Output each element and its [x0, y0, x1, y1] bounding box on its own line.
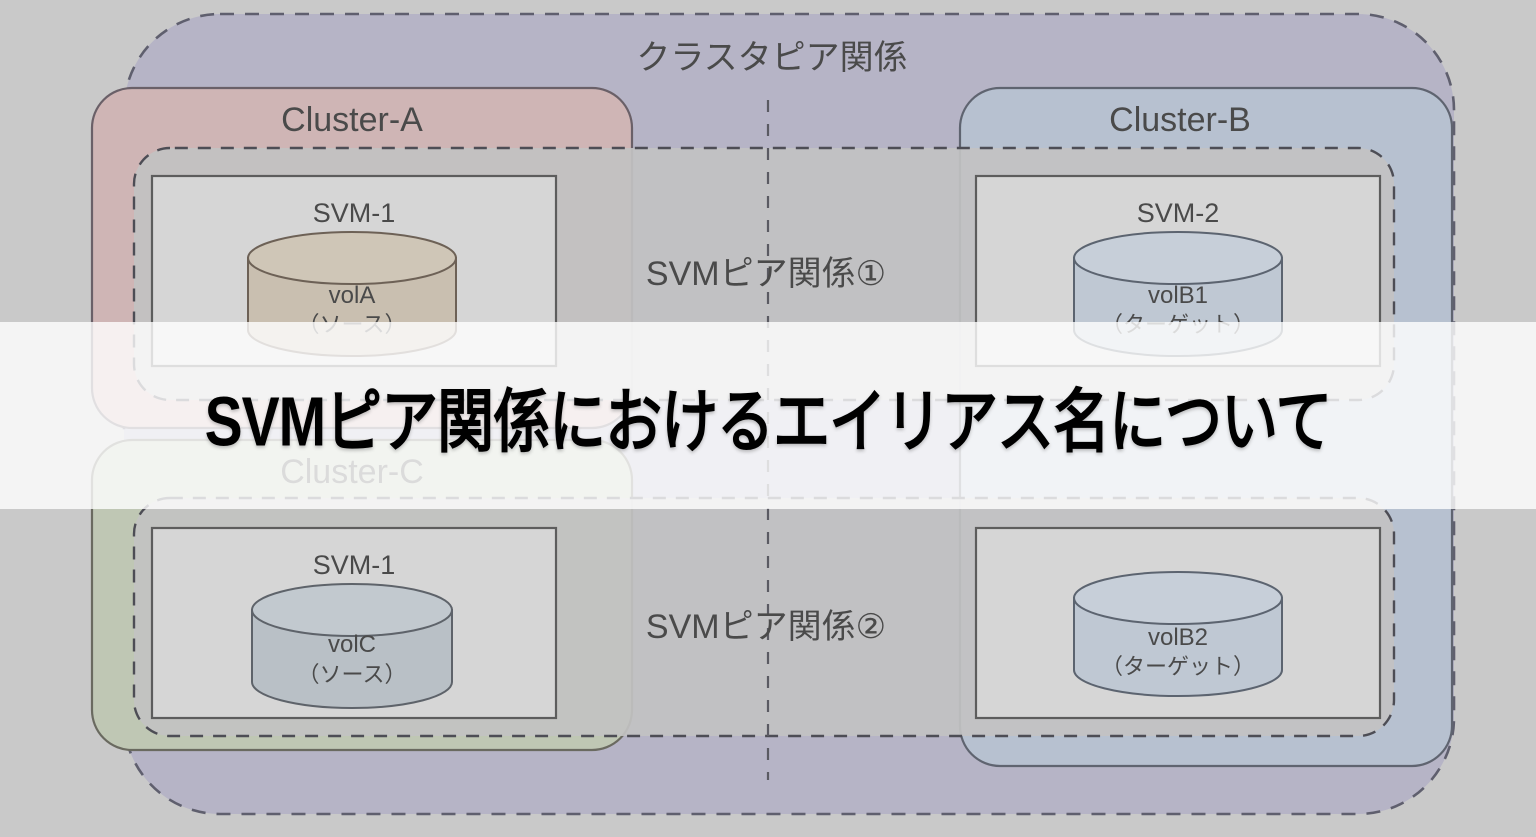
- cluster-c-label: Cluster-C: [280, 453, 424, 491]
- svm-label-c: SVM-1: [313, 550, 396, 580]
- volume-name-a: volA: [329, 282, 376, 309]
- volume-name-c: volC: [328, 631, 376, 658]
- svm-peer-label-1: SVMピア関係①: [646, 255, 886, 293]
- screenshot-root: SVM-1 volA （ソース） SVM-2 volB1 （ターゲット） SVM…: [0, 0, 1536, 837]
- volume-name-b2: volB2: [1148, 624, 1208, 651]
- volume-name-b1: volB1: [1148, 282, 1208, 309]
- volume-role-b2: （ターゲット）: [1101, 654, 1255, 679]
- svm-peer-label-2: SVMピア関係②: [646, 608, 886, 646]
- cluster-peer-label: クラスタピア関係: [636, 39, 907, 77]
- volume-role-c: （ソース）: [298, 662, 407, 687]
- cluster-b-label: Cluster-B: [1109, 101, 1251, 139]
- cluster-a-label: Cluster-A: [281, 101, 423, 139]
- volume-role-b1: （ターゲット）: [1101, 312, 1255, 337]
- svm-peer-diagram: SVM-1 volA （ソース） SVM-2 volB1 （ターゲット） SVM…: [0, 0, 1536, 837]
- svm-label-a: SVM-1: [313, 198, 396, 228]
- svm-label-b1: SVM-2: [1137, 198, 1220, 228]
- volume-role-a: （ソース）: [298, 312, 407, 337]
